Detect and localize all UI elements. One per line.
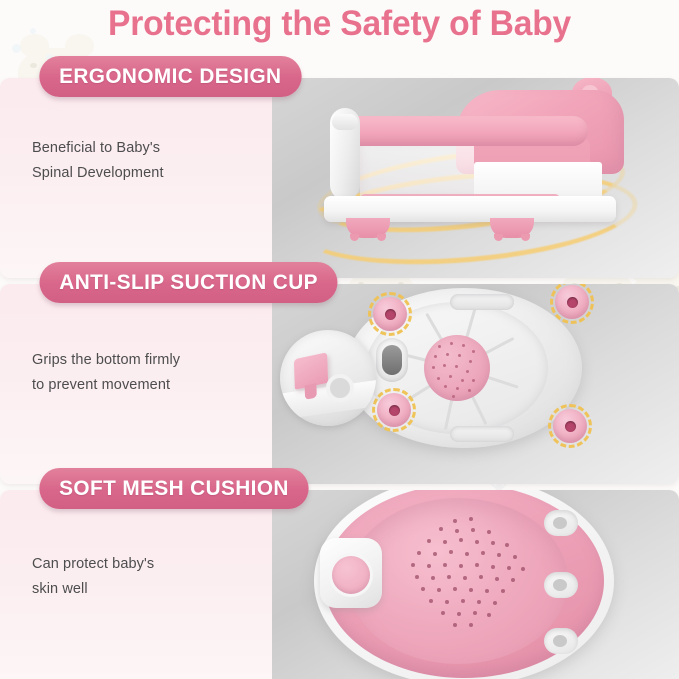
feature-card: Grips the bottom firmly to prevent movem…: [0, 284, 679, 484]
page-title: Protecting the Safety of Baby: [14, 4, 666, 44]
feature-card: Beneficial to Baby's Spinal Development: [0, 78, 679, 278]
suction-cup-detail-inset: [280, 330, 376, 426]
bath-seat-top: [314, 490, 614, 679]
side-handle: [320, 538, 382, 608]
description-line: skin well: [32, 577, 256, 602]
feature-section-anti-slip-suction-cup: Grips the bottom firmly to prevent movem…: [0, 262, 679, 462]
feature-description: Grips the bottom firmly to prevent movem…: [32, 348, 256, 398]
product-illustration-underside: [272, 284, 679, 484]
feature-text-pane: Beneficial to Baby's Spinal Development: [0, 78, 272, 278]
feature-text-pane: Grips the bottom firmly to prevent movem…: [0, 284, 272, 484]
dot-watermark: [12, 44, 21, 53]
description-line: Grips the bottom firmly: [32, 348, 256, 373]
description-line: to prevent movement: [32, 373, 256, 398]
vent-slot: [450, 294, 514, 310]
drain-mesh-hub: [424, 335, 490, 401]
suction-cup-highlight: [550, 284, 594, 324]
description-line: Beneficial to Baby's: [32, 136, 256, 161]
infographic-page: Protecting the Safety of Baby Beneficial…: [0, 0, 679, 679]
drain-plug: [376, 338, 408, 382]
product-illustration-side-view: [272, 78, 679, 278]
feature-image-pane: [272, 284, 679, 484]
suction-foot: [490, 218, 534, 238]
suction-cup-highlight: [368, 292, 412, 336]
description-line: Spinal Development: [32, 161, 256, 186]
side-tab: [544, 572, 578, 598]
feature-badge-anti-slip-suction-cup: ANTI-SLIP SUCTION CUP: [40, 262, 338, 303]
feature-image-pane: [272, 490, 679, 679]
feature-description: Can protect baby's skin well: [32, 552, 256, 602]
feature-section-soft-mesh-cushion: Can protect baby's skin well: [0, 468, 679, 664]
product-illustration-top-view: [272, 490, 679, 679]
description-line: Can protect baby's: [32, 552, 256, 577]
vent-slot: [450, 426, 514, 442]
bath-seat-side: [324, 90, 624, 240]
feature-image-pane: [272, 78, 679, 278]
side-tab: [544, 510, 578, 536]
feature-badge-ergonomic-design: ERGONOMIC DESIGN: [39, 56, 301, 97]
feature-text-pane: Can protect baby's skin well: [0, 490, 272, 679]
feature-badge-soft-mesh-cushion: SOFT MESH CUSHION: [39, 468, 308, 509]
suction-foot: [346, 218, 390, 238]
feature-description: Beneficial to Baby's Spinal Development: [32, 136, 256, 186]
mesh-perforations: [399, 517, 529, 637]
suction-cup-highlight: [548, 404, 592, 448]
side-tab: [544, 628, 578, 654]
feature-section-ergonomic-design: Beneficial to Baby's Spinal Development: [0, 56, 679, 256]
suction-cup-highlight: [372, 388, 416, 432]
feature-card: Can protect baby's skin well: [0, 490, 679, 679]
